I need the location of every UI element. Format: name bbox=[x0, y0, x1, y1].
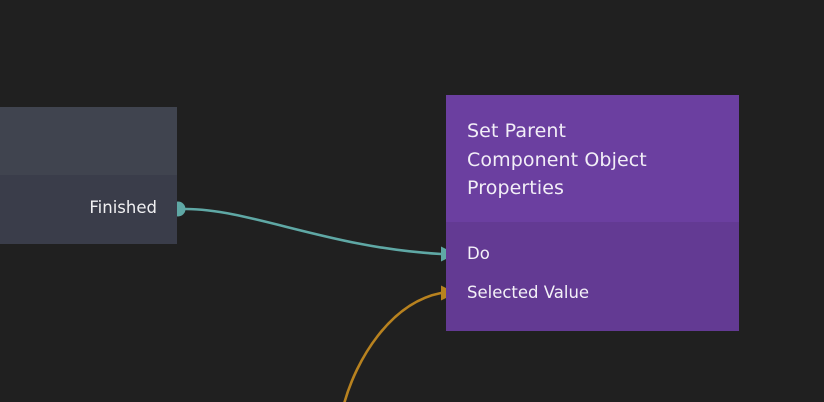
node-source[interactable]: Finished bbox=[0, 107, 177, 244]
node-target-body: Do Selected Value bbox=[446, 222, 739, 331]
node-set-parent-component-object-properties[interactable]: Set Parent Component Object Properties D… bbox=[446, 95, 739, 331]
node-target-header[interactable]: Set Parent Component Object Properties bbox=[446, 95, 739, 222]
port-label-do[interactable]: Do bbox=[467, 245, 490, 263]
node-graph-canvas[interactable]: Finished Set Parent Component Object Pro… bbox=[0, 0, 824, 402]
node-source-header[interactable] bbox=[0, 107, 177, 175]
connection-value-to-selected-value bbox=[344, 293, 441, 402]
port-label-selected-value[interactable]: Selected Value bbox=[467, 284, 589, 302]
node-target-title: Set Parent Component Object Properties bbox=[467, 117, 721, 203]
connection-finished-to-do bbox=[186, 209, 441, 254]
node-source-body: Finished bbox=[0, 175, 177, 244]
port-label-finished[interactable]: Finished bbox=[89, 199, 157, 217]
